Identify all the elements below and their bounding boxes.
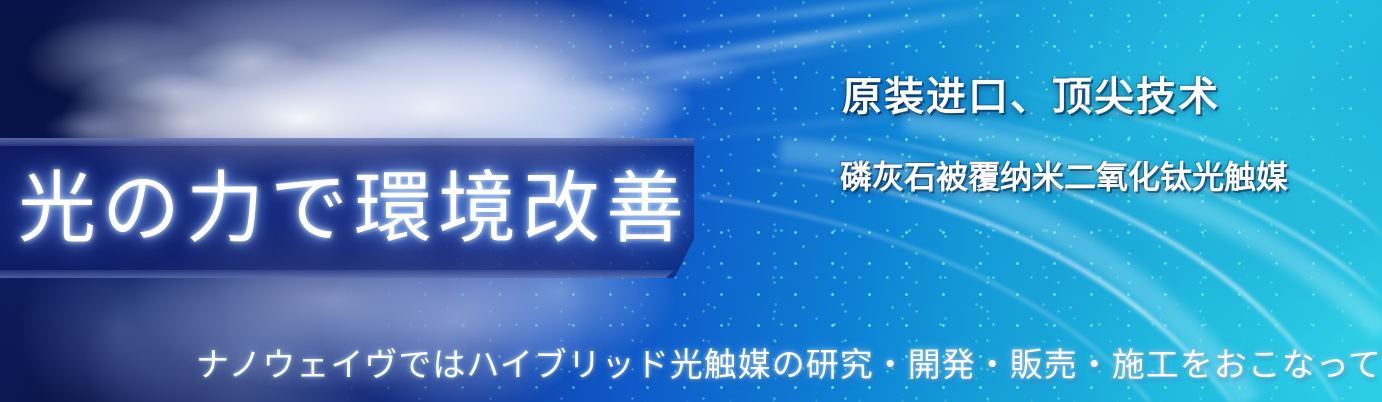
headline-band-bottom-border: [0, 270, 694, 278]
hero-banner: 光の力で環境改善 原装进口、顶尖技术 磷灰石被覆纳米二氧化钛光触媒 ナノウェイヴ…: [0, 0, 1382, 402]
headline-text: 光の力で環境改善: [18, 163, 690, 253]
promo-headline: 原装进口、顶尖技术: [842, 74, 1220, 120]
headline-band-top-border: [0, 138, 694, 146]
promo-subheadline: 磷灰石被覆纳米二氧化钛光触媒: [840, 158, 1288, 196]
tagline-text: ナノウェイヴではハイブリッド光触媒の研究・開発・販売・施工をおこなっています: [196, 344, 1382, 386]
